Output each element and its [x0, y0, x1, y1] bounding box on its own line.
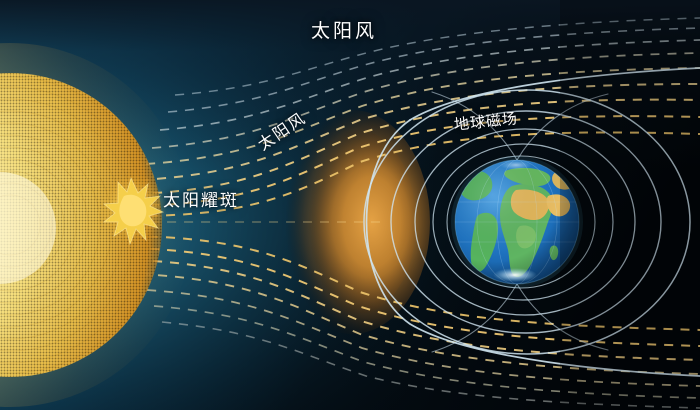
- right-vignette: [560, 0, 700, 410]
- aurora-north: [500, 160, 532, 170]
- aurora-south: [493, 268, 537, 282]
- solar-wind-diagram: 太阳风 太阳耀斑 太阳风 地球磁场: [0, 0, 700, 410]
- bow-shock-glow: [274, 110, 430, 334]
- diagram-canvas: [0, 0, 700, 410]
